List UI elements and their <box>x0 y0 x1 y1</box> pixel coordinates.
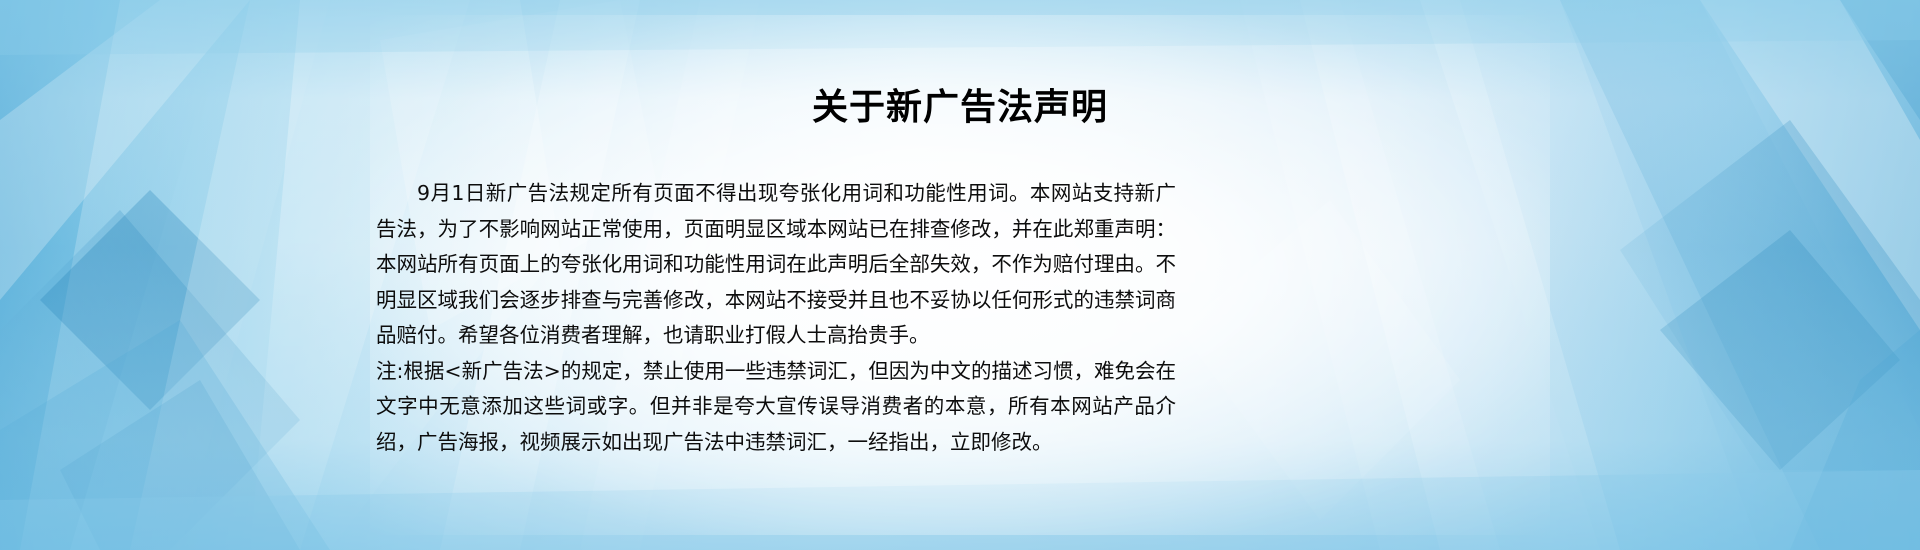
notice-body: 9月1日新广告法规定所有页面不得出现夸张化用词和功能性用词。本网站支持新广告法，… <box>376 176 1176 460</box>
notice-paragraph-1: 9月1日新广告法规定所有页面不得出现夸张化用词和功能性用词。本网站支持新广告法，… <box>376 176 1176 354</box>
notice-content: 关于新广告法声明 9月1日新广告法规定所有页面不得出现夸张化用词和功能性用词。本… <box>0 0 1920 550</box>
advertising-law-statement-banner: 关于新广告法声明 9月1日新广告法规定所有页面不得出现夸张化用词和功能性用词。本… <box>0 0 1920 550</box>
notice-paragraph-2: 注:根据<新广告法>的规定，禁止使用一些违禁词汇，但因为中文的描述习惯，难免会在… <box>376 354 1176 461</box>
page-title: 关于新广告法声明 <box>0 86 1920 130</box>
